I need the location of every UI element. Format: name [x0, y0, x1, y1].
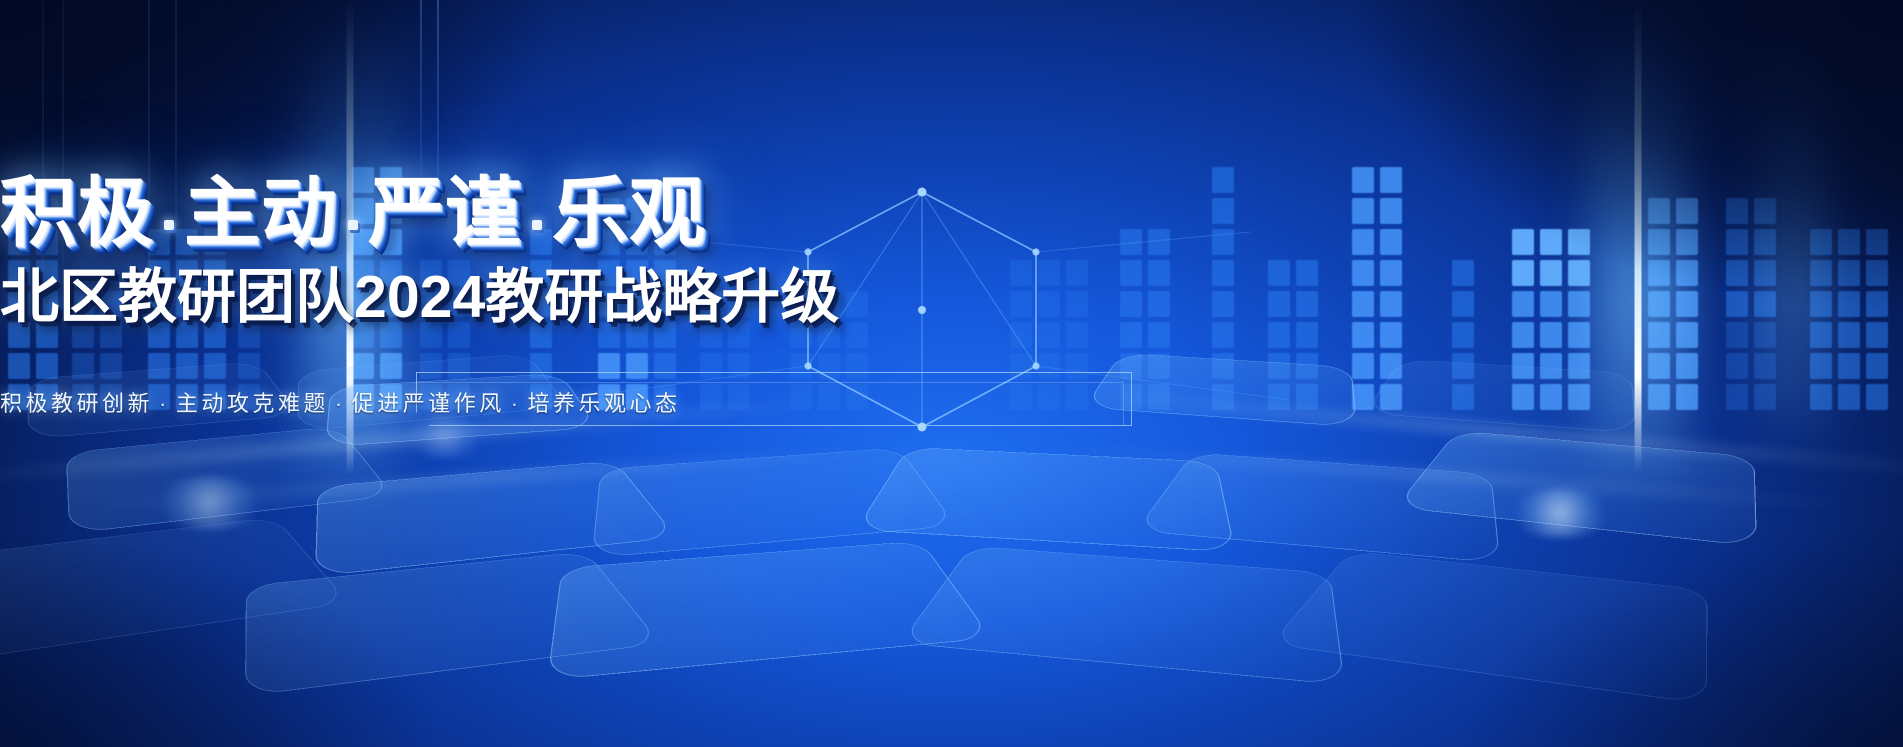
main-title-segment-3: 严谨	[368, 176, 522, 252]
main-title-segment-2: 主动	[184, 176, 338, 252]
floor-tile	[0, 517, 349, 660]
tagline-separator: ·	[505, 391, 528, 416]
banner-root: 积极主动严谨乐观 北区教研团队2024教研战略升级 积极教研创新·主动攻克难题·…	[0, 0, 1903, 747]
floor-tile	[856, 447, 1236, 552]
floor-tile	[900, 546, 1345, 685]
tagline-item-3: 促进严谨作风	[352, 391, 505, 416]
main-title-segment-1: 积极	[0, 176, 154, 252]
floor-light-sweep	[61, 446, 880, 511]
floor-tile	[245, 551, 661, 696]
tagline-item-1: 积极教研创新	[0, 391, 153, 416]
title-separator-dot	[532, 220, 542, 230]
sub-title: 北区教研团队2024教研战略升级	[0, 268, 1903, 327]
floor-tile	[1395, 431, 1757, 547]
title-separator-dot	[348, 220, 358, 230]
main-title-segment-4: 乐观	[552, 176, 706, 252]
floor-tile	[1270, 551, 1707, 704]
floor-tile	[66, 426, 394, 534]
tagline-separator: ·	[153, 391, 176, 416]
tagline-item-4: 培养乐观心态	[528, 391, 681, 416]
tagline-separator: ·	[329, 391, 352, 416]
title-separator-dot	[164, 220, 174, 230]
floor-tile	[547, 541, 992, 680]
floor-tile	[592, 448, 957, 558]
floor-tile	[1136, 453, 1501, 563]
tagline-text: 积极教研创新·主动攻克难题·促进严谨作风·培养乐观心态	[0, 386, 1903, 418]
floor-light-sweep	[1021, 442, 1879, 510]
main-title: 积极主动严谨乐观	[0, 176, 1903, 252]
floor-glow-spot	[150, 477, 270, 529]
antenna-line	[175, 0, 177, 300]
tagline-item-2: 主动攻克难题	[176, 391, 329, 416]
floor-tile	[315, 461, 677, 577]
floor-glow-spot	[1505, 489, 1615, 537]
